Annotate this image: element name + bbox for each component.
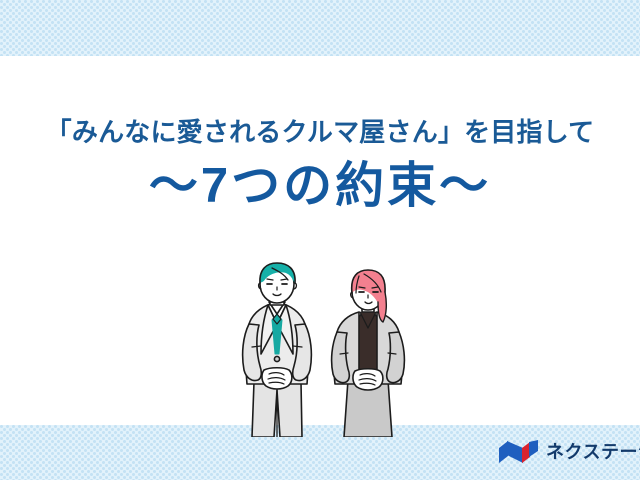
nextage-wordmark: ネクステージ — [546, 443, 640, 461]
top-dot-band — [0, 0, 640, 56]
female-staff-figure — [332, 270, 405, 437]
headline-line-secondary: ～7つの約束～ — [0, 157, 640, 216]
male-staff-figure — [243, 263, 312, 437]
nextage-n-mark-icon — [498, 439, 540, 465]
slide-canvas: 「みんなに愛されるクルマ屋さん」を目指して ～7つの約束～ — [0, 0, 640, 480]
nextage-logo: ネクステージ — [498, 437, 640, 467]
staff-illustration — [228, 262, 423, 437]
headline-block: 「みんなに愛されるクルマ屋さん」を目指して ～7つの約束～ — [0, 118, 640, 216]
headline-line-primary: 「みんなに愛されるクルマ屋さん」を目指して — [0, 118, 640, 148]
